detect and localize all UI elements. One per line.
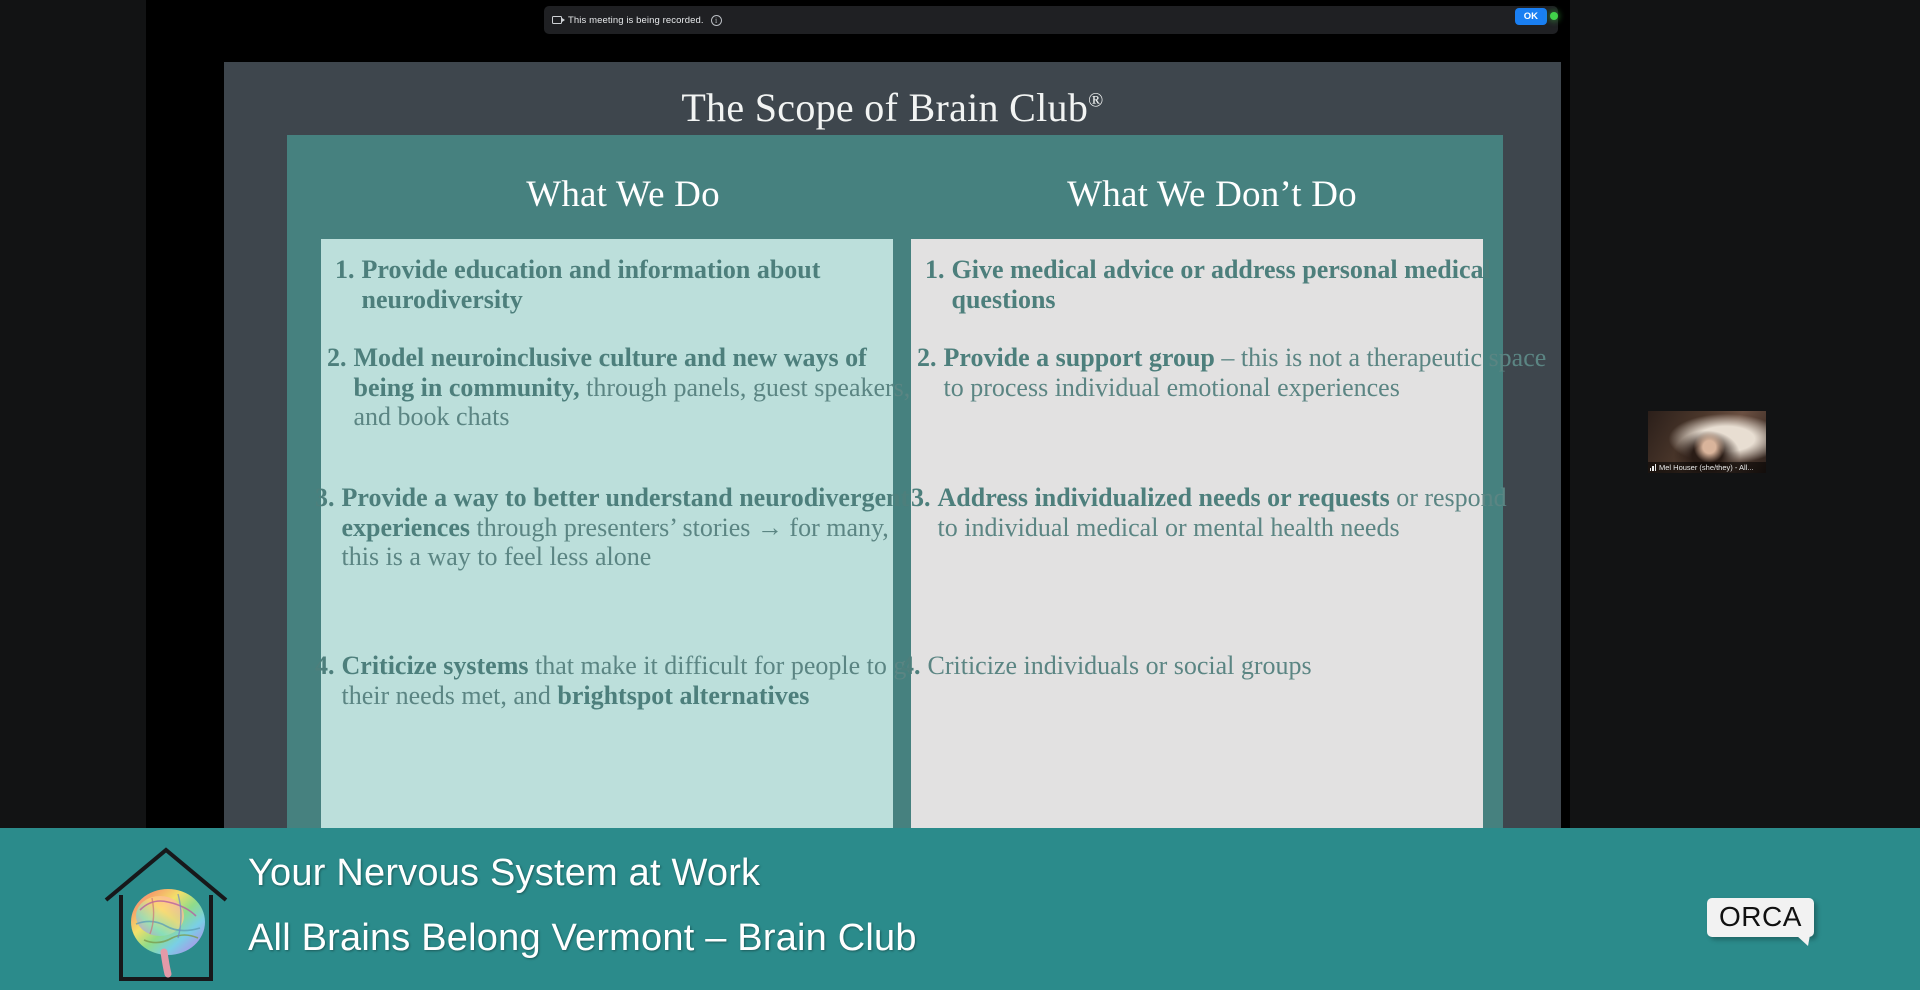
list-item-number: 4. (901, 651, 928, 681)
list-item-number: 3. (911, 483, 938, 542)
slide-title-text: The Scope of Brain Club (681, 85, 1088, 130)
slide-content-panel: What We Do What We Don’t Do 1.Provide ed… (287, 135, 1503, 828)
slide-title: The Scope of Brain Club® (224, 84, 1561, 131)
info-icon[interactable]: i (711, 15, 722, 26)
list-item-number: 1. (335, 255, 362, 314)
list-item-text: Provide a support group – this is not a … (944, 343, 1558, 402)
list-item-number: 1. (925, 255, 952, 314)
list-item-text: Criticize systems that make it difficult… (342, 651, 928, 710)
list-item: 3.Address individualized needs or reques… (911, 483, 1521, 542)
participant-name-text: Mel Houser (she/they) - All... (1659, 462, 1754, 473)
list-item: 2.Model neuroinclusive culture and new w… (327, 343, 927, 432)
banner-title: Your Nervous System at Work (248, 848, 917, 899)
what-we-do-card: 1.Provide education and information abou… (321, 239, 893, 828)
recording-notice-text: This meeting is being recorded. (568, 15, 704, 26)
list-item-number: 2. (327, 343, 354, 432)
participant-video-tile[interactable]: Mel Houser (she/they) - All... (1648, 411, 1766, 473)
registered-mark: ® (1088, 90, 1104, 112)
list-item: 4.Criticize individuals or social groups (901, 651, 1521, 681)
recording-banner: This meeting is being recorded. i OK (224, 0, 1561, 62)
list-item-text: Provide a way to better understand neuro… (342, 483, 926, 572)
column-heading-left: What We Do (323, 173, 923, 216)
list-item: 4.Criticize systems that make it difficu… (315, 651, 927, 710)
list-item-text: Address individualized needs or requests… (938, 483, 1522, 542)
list-item-text: Provide education and information about … (362, 255, 936, 314)
list-item-text: Criticize individuals or social groups (928, 651, 1312, 681)
list-item-text: Model neuroinclusive culture and new way… (354, 343, 928, 432)
recording-notice-pill: This meeting is being recorded. i (544, 6, 1558, 34)
shared-slide: The Scope of Brain Club® What We Do What… (224, 62, 1561, 828)
list-item: 1.Give medical advice or address persona… (925, 255, 1505, 314)
stage-left-letterbox (0, 0, 146, 828)
orca-logo: ORCA (1707, 898, 1814, 937)
column-heading-right: What We Don’t Do (927, 173, 1497, 216)
what-we-dont-do-card: 1.Give medical advice or address persona… (911, 239, 1483, 828)
presentation-lower-third: Your Nervous System at Work All Brains B… (0, 828, 1920, 990)
list-item-text: Give medical advice or address personal … (952, 255, 1506, 314)
orca-logo-text: ORCA (1719, 901, 1802, 932)
banner-subtitle: All Brains Belong Vermont – Brain Club (248, 913, 917, 964)
list-item: 3.Provide a way to better understand neu… (315, 483, 925, 572)
list-item-number: 4. (315, 651, 342, 710)
list-item-number: 3. (315, 483, 342, 572)
zoom-meeting-screen: This meeting is being recorded. i OK The… (0, 0, 1920, 990)
list-item: 2.Provide a support group – this is not … (917, 343, 1557, 402)
house-with-rainbow-brain-logo-icon (96, 838, 236, 983)
recording-status-dot-icon (1550, 12, 1558, 20)
camera-icon (552, 16, 562, 24)
list-item: 1.Provide education and information abou… (335, 255, 935, 314)
participant-name-label: Mel Houser (she/they) - All... (1648, 462, 1766, 473)
recording-ok-button[interactable]: OK (1515, 8, 1547, 25)
banner-text-block: Your Nervous System at Work All Brains B… (248, 848, 917, 965)
signal-bars-icon (1650, 464, 1657, 471)
list-item-number: 2. (917, 343, 944, 402)
